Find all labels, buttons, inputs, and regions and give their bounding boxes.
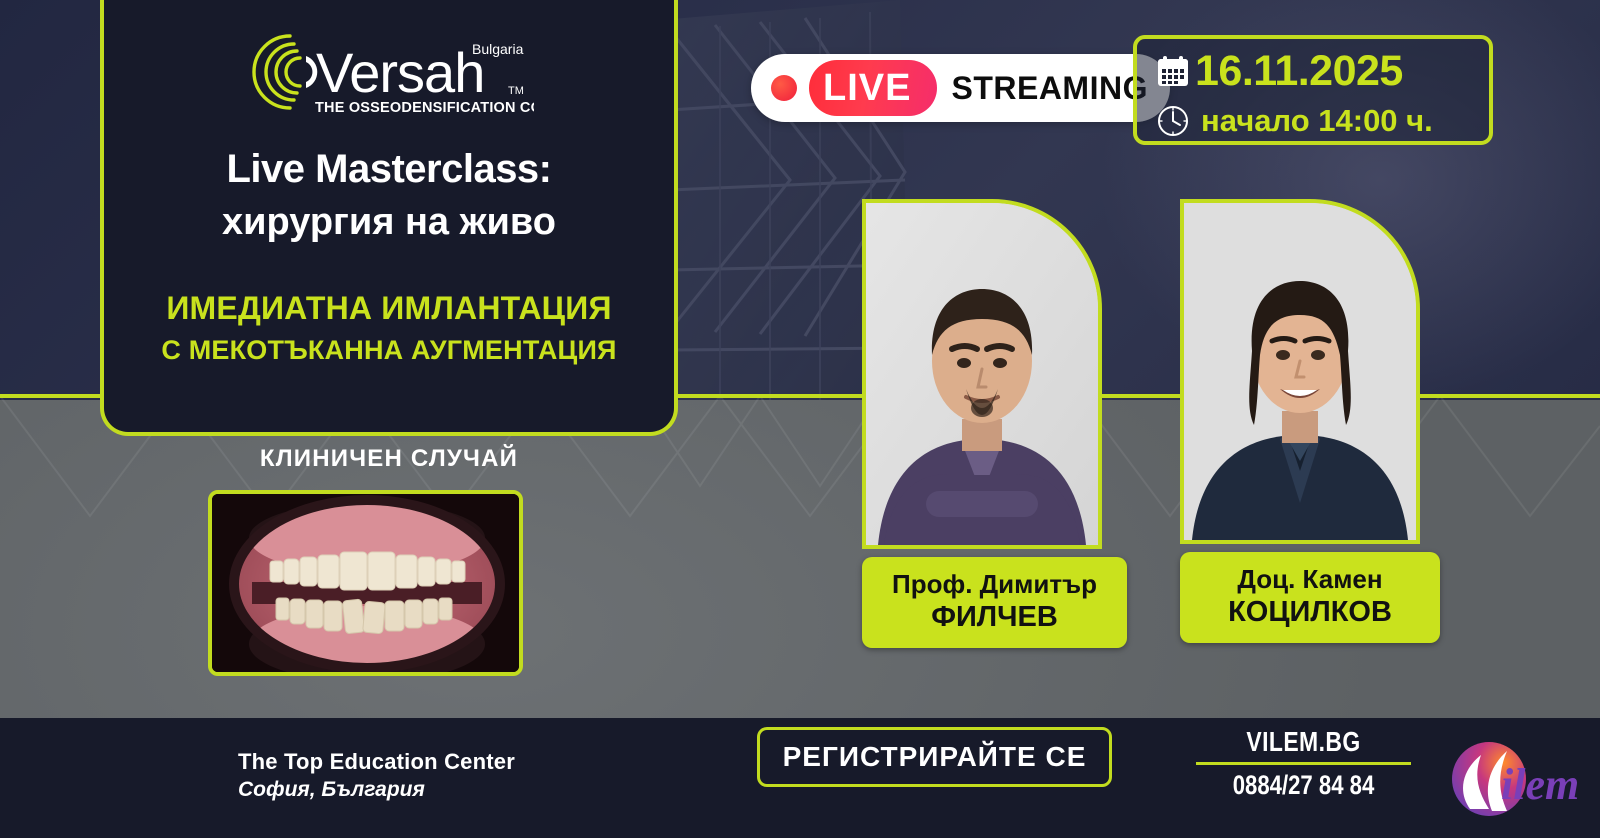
masterclass-title-bg: хирургия на живо (104, 201, 674, 244)
svg-text:THE OSSEODENSIFICATION COMPANY: THE OSSEODENSIFICATION COMPANY (315, 100, 534, 116)
topic-line-2: С МЕКОТЪКАННА АУГМЕНТАЦИЯ (104, 335, 674, 366)
svg-text:TM: TM (508, 85, 524, 97)
speaker-card-2: Доц. Камен КОЦИЛКОВ (1180, 199, 1440, 643)
clinical-case-photo (208, 490, 523, 676)
phone-number[interactable]: 0884/27 84 84 (1215, 770, 1391, 801)
clinical-case-label: КЛИНИЧЕН СЛУЧАЙ (100, 445, 678, 473)
venue-city: София, България (238, 778, 515, 802)
speaker-photo-1 (862, 199, 1102, 549)
event-time: начало 14:00 ч. (1201, 103, 1433, 139)
website-link[interactable]: VILEM.BG (1215, 726, 1391, 758)
clock-icon (1151, 104, 1195, 138)
hero-panel: Versah Bulgaria TM THE OSSEODENSIFICATIO… (100, 0, 678, 436)
speaker-lastname-1: ФИЛЧЕВ (872, 600, 1117, 634)
live-streaming-badge: LIVE STREAMING (751, 54, 1170, 122)
event-date: 16.11.2025 (1195, 47, 1403, 96)
svg-text:Bulgaria: Bulgaria (472, 41, 524, 57)
contact-info: VILEM.BG 0884/27 84 84 (1196, 726, 1411, 801)
versah-logo: Versah Bulgaria TM THE OSSEODENSIFICATIO… (244, 24, 534, 120)
venue-info: The Top Education Center София, България (238, 749, 515, 802)
speaker-lastname-2: КОЦИЛКОВ (1190, 595, 1430, 629)
record-dot-icon (771, 75, 797, 101)
masterclass-title-en: Live Masterclass: (104, 147, 674, 192)
date-row: 16.11.2025 (1151, 46, 1489, 96)
speaker-card-1: Проф. Димитър ФИЛЧЕВ (862, 199, 1127, 648)
contact-divider (1196, 762, 1411, 765)
speaker-title-1: Проф. Димитър (872, 569, 1117, 600)
schedule-box: 16.11.2025 начало 14:00 ч. (1133, 35, 1493, 145)
promotional-banner: Versah Bulgaria TM THE OSSEODENSIFICATIO… (0, 0, 1600, 838)
speaker-nameplate-2: Доц. Камен КОЦИЛКОВ (1180, 552, 1440, 643)
vilem-logo: ilem (1437, 733, 1587, 825)
live-pill: LIVE (809, 60, 937, 116)
svg-text:Versah: Versah (316, 41, 484, 104)
streaming-label: STREAMING (951, 70, 1148, 107)
calendar-icon (1151, 54, 1195, 88)
speaker-title-2: Доц. Камен (1190, 564, 1430, 595)
time-row: начало 14:00 ч. (1151, 96, 1489, 146)
register-button[interactable]: РЕГИСТРИРАЙТЕ СЕ (757, 727, 1112, 787)
topic-line-1: ИМЕДИАТНА ИМЛАНТАЦИЯ (104, 290, 674, 327)
venue-name: The Top Education Center (238, 749, 515, 775)
svg-text:ilem: ilem (1501, 760, 1579, 809)
live-label: LIVE (823, 67, 911, 110)
speaker-photo-2 (1180, 199, 1420, 544)
speaker-nameplate-1: Проф. Димитър ФИЛЧЕВ (862, 557, 1127, 648)
